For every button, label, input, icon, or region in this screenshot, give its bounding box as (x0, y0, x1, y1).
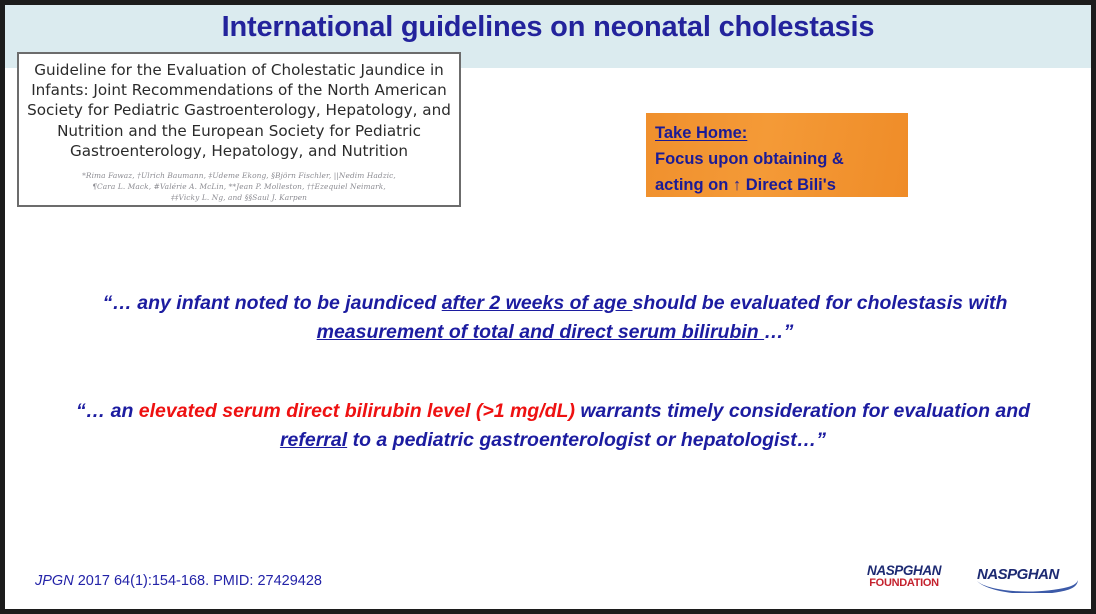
article-authors-line: ‡‡Vicky L. Ng, and §§Saul J. Karpen (27, 192, 451, 203)
take-home-label: Take Home: (655, 124, 747, 142)
naspghan-foundation-logo-bottom: FOUNDATION (867, 578, 941, 590)
logo-group: NASPGHAN FOUNDATION NASPGHAN (867, 562, 1082, 600)
quote-1-text-part-3: …” (764, 321, 793, 343)
article-authors-line: *Rima Fawaz, †Ulrich Baumann, ‡Udeme Eko… (27, 170, 451, 181)
guideline-quote-1: “… any infant noted to be jaundiced afte… (65, 289, 1045, 346)
take-home-line-2: acting on ↑ Direct Bili's (655, 172, 908, 198)
quote-2-highlight-red: elevated serum direct bilirubin level (>… (139, 400, 575, 422)
quote-2-text-part-2: warrants timely consideration for evalua… (575, 400, 1030, 422)
quote-2-text-part-1: “… an (76, 400, 139, 422)
take-home-label-row: Take Home: (655, 120, 908, 146)
quote-2-underlined-1: referral (280, 429, 347, 451)
quote-2-text-part-3: to a pediatric gastroenterologist or hep… (347, 429, 826, 451)
naspghan-foundation-logo: NASPGHAN FOUNDATION (867, 564, 941, 590)
source-citation: JPGN 2017 64(1):154-168. PMID: 27429428 (35, 573, 322, 589)
take-home-callout: Take Home: Focus upon obtaining & acting… (646, 113, 908, 197)
citation-details: 2017 64(1):154-168. PMID: 27429428 (74, 573, 322, 589)
slide-canvas: International guidelines on neonatal cho… (0, 0, 1096, 614)
article-authors: *Rima Fawaz, †Ulrich Baumann, ‡Udeme Eko… (27, 170, 451, 203)
quote-1-text-part-1: “… any infant noted to be jaundiced (103, 292, 442, 314)
article-title: Guideline for the Evaluation of Cholesta… (27, 60, 451, 161)
article-citation-box: Guideline for the Evaluation of Cholesta… (17, 52, 461, 207)
naspghan-foundation-logo-top: NASPGHAN (867, 564, 941, 578)
guideline-quote-2: “… an elevated serum direct bilirubin le… (53, 397, 1053, 454)
article-authors-line: ¶Cara L. Mack, #Valérie A. McLin, **Jean… (27, 181, 451, 192)
quote-1-underlined-1: after 2 weeks of age (442, 292, 633, 314)
journal-name: JPGN (35, 573, 74, 589)
swoosh-icon (975, 571, 1081, 593)
quote-1-underlined-2: measurement of total and direct serum bi… (317, 321, 765, 343)
quote-1-text-part-2: should be evaluated for cholestasis with (632, 292, 1007, 314)
take-home-line-1: Focus upon obtaining & (655, 146, 908, 172)
naspghan-logo: NASPGHAN (975, 565, 1083, 595)
page-title: International guidelines on neonatal cho… (5, 11, 1091, 44)
